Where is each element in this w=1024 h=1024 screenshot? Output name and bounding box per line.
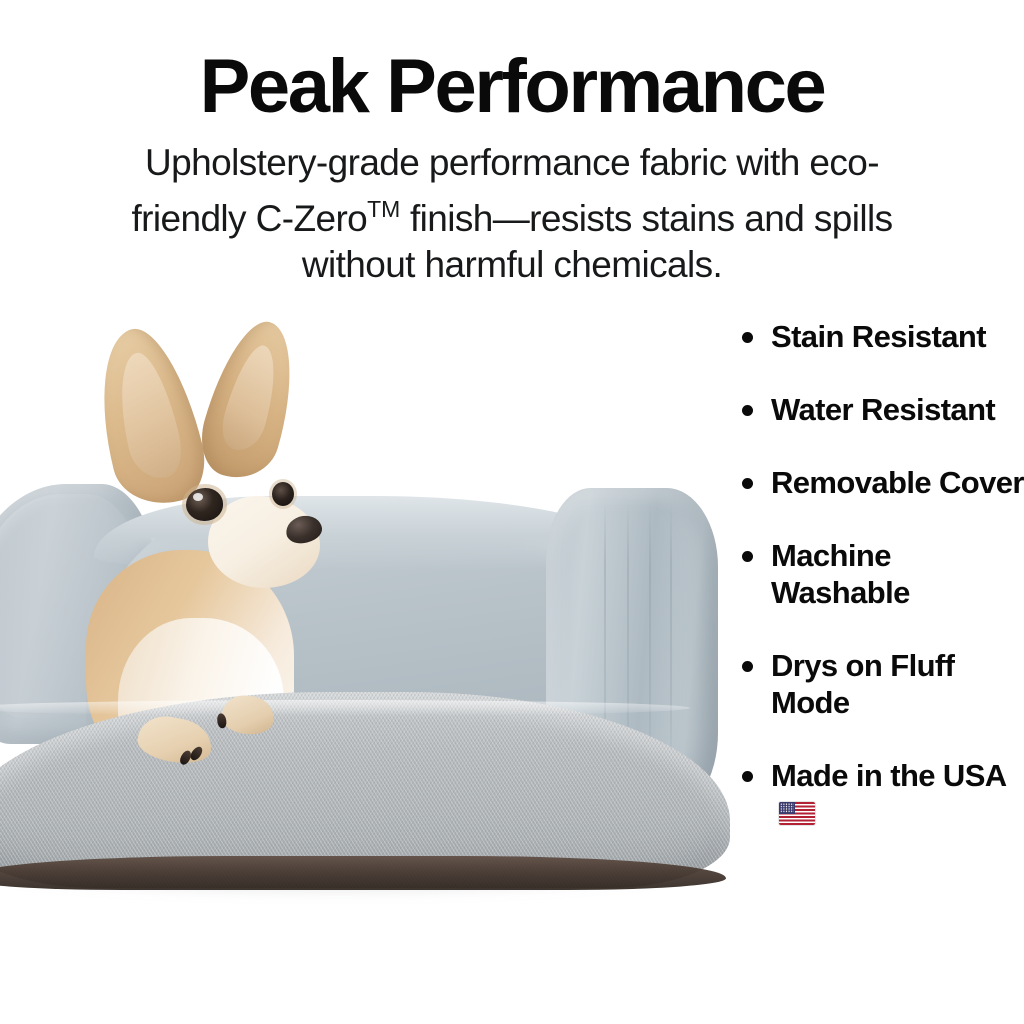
dog-paws-group: [0, 300, 720, 920]
subtitle-line-2: friendly C-ZeroTM finish—resists stains …: [78, 186, 946, 242]
subtitle-line-2-a: friendly C-Zero: [131, 198, 367, 239]
subtitle-line-3: without harmful chemicals.: [78, 242, 946, 288]
bed-base: [0, 856, 726, 890]
feature-item-drys-on-fluff-mode: Drys on Fluff Mode: [742, 647, 1024, 721]
subtitle-line-1: Upholstery-grade performance fabric with…: [78, 140, 946, 186]
subtitle: Upholstery-grade performance fabric with…: [78, 140, 946, 288]
feature-list: Stain Resistant Water Resistant Removabl…: [742, 318, 1024, 831]
feature-item-stain-resistant: Stain Resistant: [742, 318, 1024, 355]
feature-label: Stain Resistant: [771, 318, 986, 355]
trademark-symbol: TM: [367, 196, 400, 222]
flag-canton: [779, 802, 795, 814]
feature-label: Removable Cover: [771, 464, 1024, 501]
feature-item-water-resistant: Water Resistant: [742, 391, 1024, 428]
page-title: Peak Performance: [0, 46, 1024, 128]
feature-item-machine-washable: Machine Washable: [742, 537, 1024, 611]
feature-label: Machine Washable: [771, 537, 1024, 611]
feature-label: Water Resistant: [771, 391, 995, 428]
feature-item-removable-cover: Removable Cover: [742, 464, 1024, 501]
bullet-icon: [742, 661, 753, 672]
dog-paw-right: [220, 693, 276, 736]
feature-label-made-in-usa: Made in the USA: [771, 757, 1024, 831]
bullet-icon: [742, 478, 753, 489]
dog-claw: [216, 713, 227, 729]
bullet-icon: [742, 332, 753, 343]
feature-item-made-in-the-usa: Made in the USA: [742, 757, 1024, 831]
dog-claw: [188, 745, 204, 762]
us-flag-icon: [779, 802, 815, 825]
bullet-icon: [742, 771, 753, 782]
feature-label: Made in the USA: [771, 758, 1007, 793]
promo-graphic: Peak Performance Upholstery-grade perfor…: [0, 0, 1024, 1024]
subtitle-line-2-b: finish—resists stains and spills: [400, 198, 892, 239]
feature-label: Drys on Fluff Mode: [771, 647, 1024, 721]
product-photo: [0, 300, 720, 920]
bullet-icon: [742, 551, 753, 562]
bullet-icon: [742, 405, 753, 416]
dog-paw-left: [135, 712, 216, 768]
